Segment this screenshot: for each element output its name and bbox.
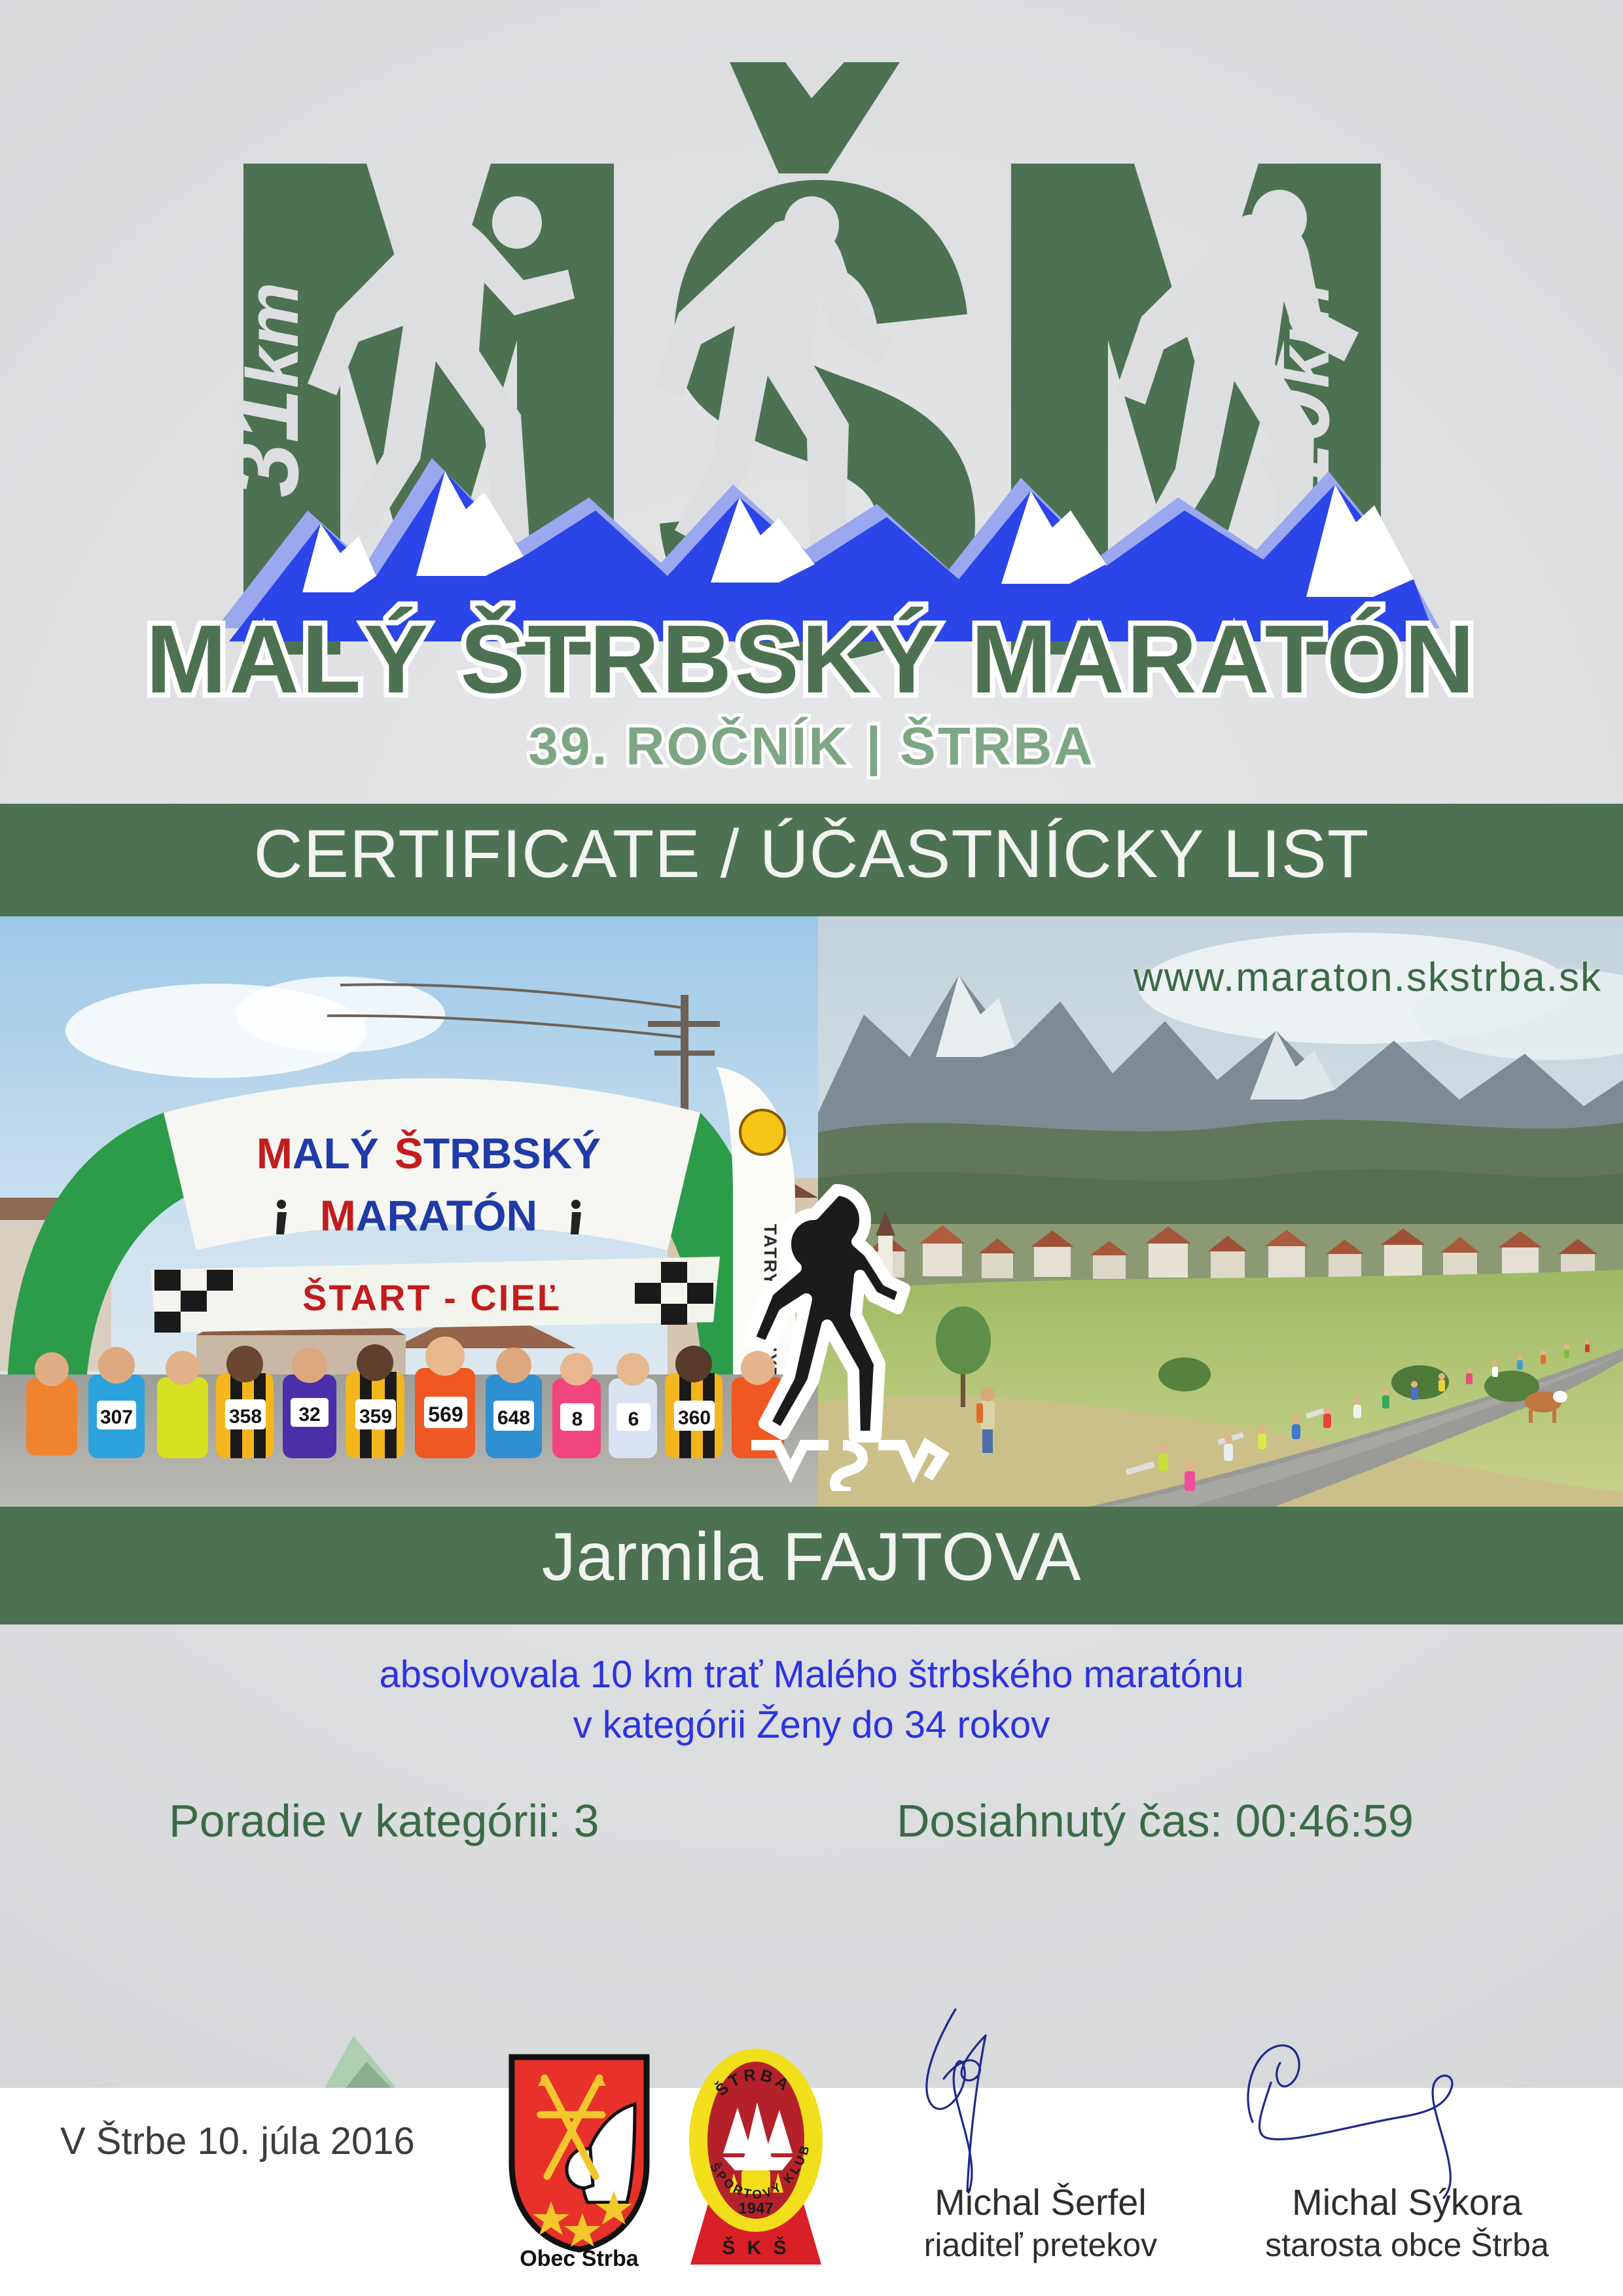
logo-title-graphic: MALÝ ŠTRBSKÝ MARATÓN 39. ROČNÍK | ŠTRBA	[0, 0, 1623, 805]
municipality-label: Obec Štrba	[504, 2246, 654, 2272]
certificate-page: 31km 10km MALÝ	[0, 0, 1623, 2296]
svg-text:648: 648	[497, 1407, 530, 1429]
svg-text:ŠTART - CIEĽ: ŠTART - CIEĽ	[302, 1277, 562, 1318]
issue-date: V Štrbe 10. júla 2016	[60, 2119, 415, 2163]
signature-role-director: riaditeľ pretekov	[857, 2226, 1224, 2264]
svg-text:358: 358	[229, 1406, 262, 1427]
club-year: 1947	[738, 2200, 773, 2217]
signature-role-mayor: starosta obce Štrba	[1224, 2226, 1590, 2264]
svg-text:359: 359	[359, 1406, 392, 1427]
signature-mark-mayor	[1224, 2003, 1590, 2199]
signature-name-director: Michal Šerfel	[857, 2181, 1224, 2223]
svg-text:360: 360	[678, 1407, 711, 1429]
finish-time: Dosiahnutý čas: 00:46:59	[897, 1795, 1414, 1847]
signature-block-mayor: Michal Sýkora starosta obce Štrba	[1224, 2003, 1590, 2264]
svg-text:MARATÓN: MARATÓN	[320, 1191, 537, 1240]
event-logo: 31km 10km MALÝ	[0, 0, 1623, 805]
svg-text:32: 32	[298, 1404, 320, 1426]
signature-name-mayor: Michal Sýkora	[1224, 2181, 1590, 2223]
website-url: www.maraton.skstrba.sk	[1133, 954, 1602, 1001]
svg-text:307: 307	[100, 1407, 133, 1428]
municipality-crest-icon	[504, 2052, 654, 2255]
club-bottom-text: Š K Š	[722, 2236, 789, 2259]
category-rank: Poradie v kategórii: 3	[169, 1795, 599, 1847]
logo-subtitle: 39. ROČNÍK | ŠTRBA	[528, 717, 1094, 777]
svg-text:569: 569	[428, 1403, 463, 1426]
msm-badge-text: MŠM	[843, 1483, 849, 1486]
achievement-line-2: v kategórii Ženy do 34 rokov	[0, 1703, 1623, 1747]
certificate-banner-title: CERTIFICATE / ÚČASTNÍCKY LIST	[0, 816, 1623, 893]
signature-block-director: Michal Šerfel riaditeľ pretekov	[857, 2003, 1224, 2264]
participant-name: Jarmila FAJTOVA	[0, 1518, 1623, 1596]
photo-start-line: MALÝŠTRBSKÝ MARATÓN ŠTART	[0, 916, 818, 1509]
achievement-line-1: absolvovala 10 km trať Malého štrbského …	[0, 1653, 1623, 1696]
signature-mark-director	[857, 2003, 1224, 2199]
svg-text:8: 8	[572, 1408, 583, 1430]
logo-title: MALÝ ŠTRBSKÝ MARATÓN	[146, 605, 1477, 713]
svg-text:MALÝŠTRBSKÝ: MALÝŠTRBSKÝ	[257, 1129, 601, 1177]
msm-runner-badge: MŠM	[738, 1164, 954, 1491]
svg-text:6: 6	[628, 1408, 639, 1430]
sports-club-badge-icon: ŠTRBA ŠPORTOVÝ KLUB 1947 Š K Š	[684, 2042, 828, 2265]
